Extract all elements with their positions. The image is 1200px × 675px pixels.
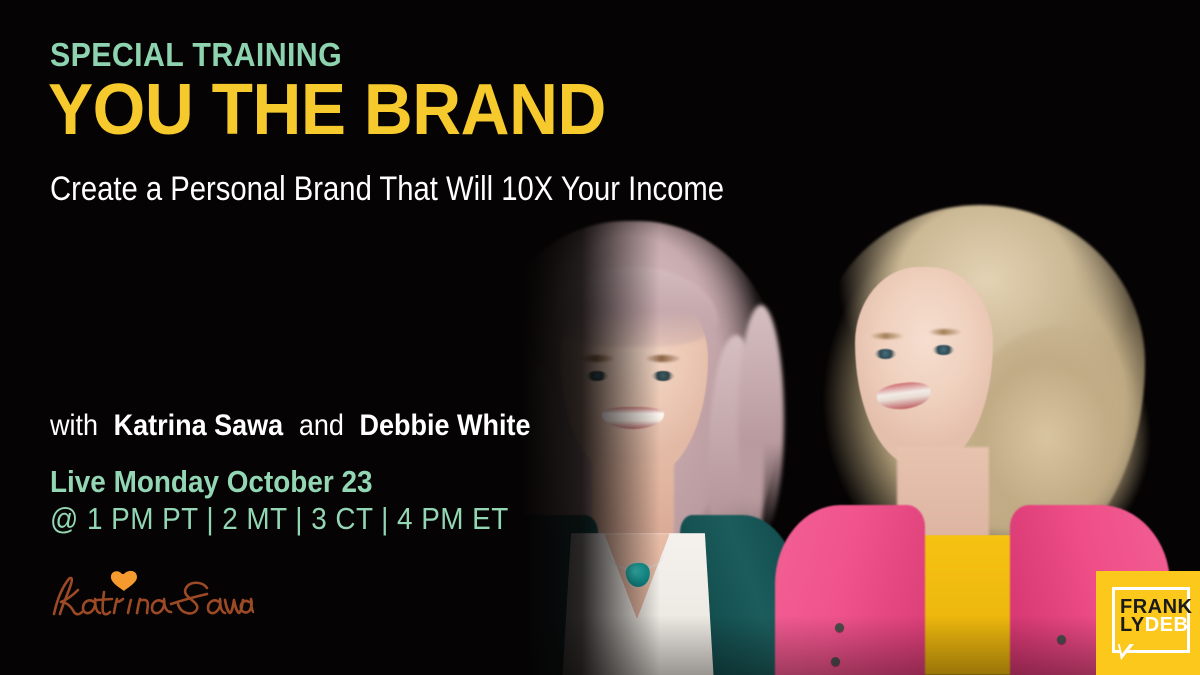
pink-jacket-left bbox=[775, 505, 925, 675]
eyebrow-left bbox=[580, 355, 614, 362]
presenter-name-two: Debbie White bbox=[359, 409, 530, 442]
jacket-button bbox=[831, 657, 840, 666]
page-title: YOU THE BRAND bbox=[48, 74, 606, 146]
eye-left bbox=[875, 349, 896, 359]
logo-text-ly: LY bbox=[1120, 614, 1145, 636]
eye-right bbox=[652, 371, 674, 381]
jacket-button bbox=[1057, 635, 1066, 644]
eye-right bbox=[933, 345, 954, 355]
presenters-line: with Katrina Sawa and Debbie White bbox=[50, 409, 539, 443]
person-photo-katrina bbox=[440, 215, 820, 675]
speech-bubble-tail-inner bbox=[1119, 641, 1132, 654]
webinar-promo-poster: SPECIAL TRAINING YOU THE BRAND Create a … bbox=[0, 0, 1200, 675]
kicker-text: SPECIAL TRAINING bbox=[50, 36, 342, 74]
event-date: Live Monday October 23 bbox=[50, 464, 509, 500]
presenter-name-one: Katrina Sawa bbox=[114, 409, 284, 442]
eye-left bbox=[586, 371, 608, 381]
frankly-deb-wordmark: FRANK LYDEB bbox=[1120, 598, 1180, 635]
with-label: with bbox=[50, 409, 98, 442]
subtitle-text: Create a Personal Brand That Will 10X Yo… bbox=[50, 170, 724, 209]
logo-text-deb: DEB bbox=[1145, 614, 1189, 636]
frankly-deb-logo: FRANK LYDEB bbox=[1096, 571, 1200, 675]
katrina-sawa-logo bbox=[44, 568, 254, 630]
schedule-block: Live Monday October 23 @ 1 PM PT | 2 MT … bbox=[50, 464, 509, 537]
hair-strand bbox=[738, 305, 784, 535]
eyebrow-right bbox=[646, 355, 680, 362]
jacket-button bbox=[835, 623, 844, 632]
eyebrow-right bbox=[929, 329, 961, 335]
eyebrow-left bbox=[871, 333, 903, 339]
event-times: @ 1 PM PT | 2 MT | 3 CT | 4 PM ET bbox=[50, 500, 509, 537]
and-label: and bbox=[299, 409, 344, 442]
logo-line-ly-deb: LYDEB bbox=[1120, 616, 1180, 634]
heart-icon bbox=[111, 571, 137, 591]
